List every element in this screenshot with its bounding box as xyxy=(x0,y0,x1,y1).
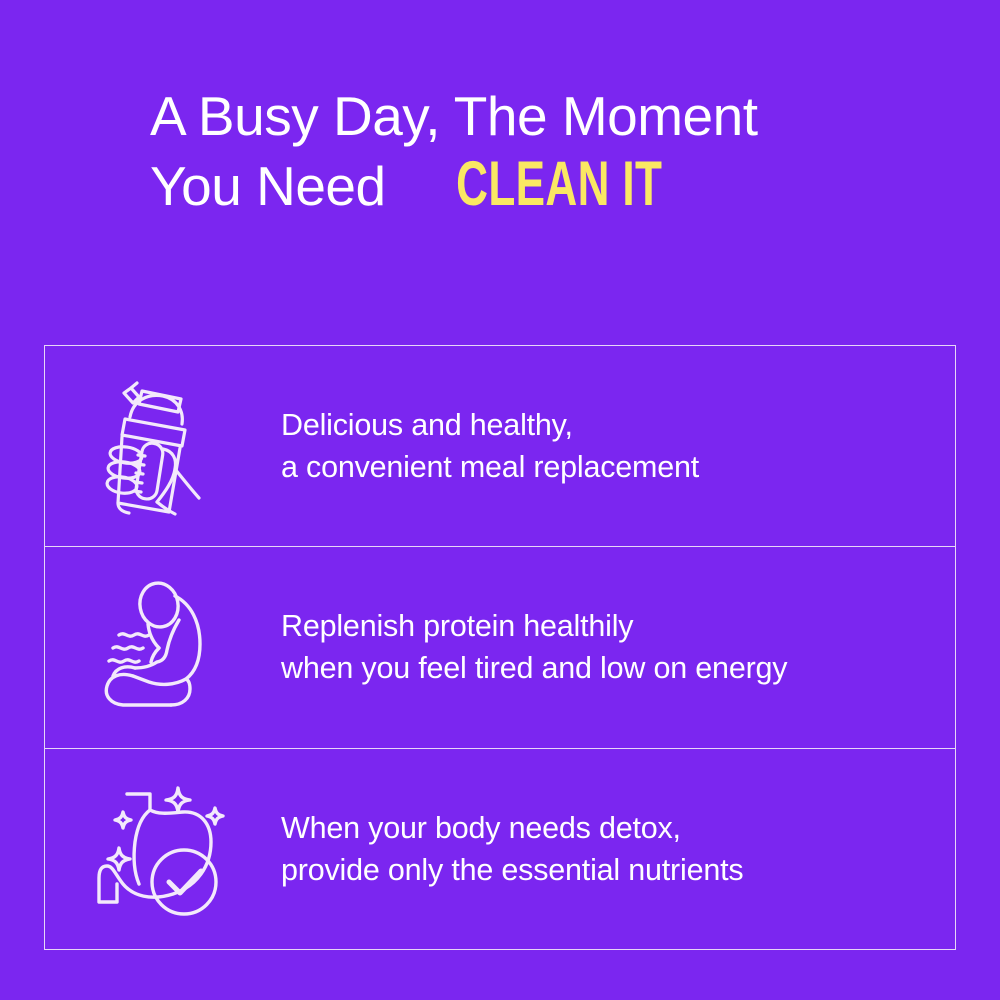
feature-text: Delicious and healthy, a convenient meal… xyxy=(281,404,699,488)
feature-row: Replenish protein healthily when you fee… xyxy=(45,546,955,747)
feature-text-line-1: Delicious and healthy, xyxy=(281,404,699,446)
feature-row: When your body needs detox, provide only… xyxy=(45,748,955,949)
headline-line-2: You Need CLEAN IT xyxy=(150,150,910,220)
feature-text: When your body needs detox, provide only… xyxy=(281,807,743,891)
feature-text-line-2: when you feel tired and low on energy xyxy=(281,647,787,689)
tired-seated-person-icon xyxy=(87,572,237,722)
feature-text: Replenish protein healthily when you fee… xyxy=(281,605,787,689)
stomach-check-sparkle-icon xyxy=(87,774,237,924)
brand-name-clean-it: CLEAN IT xyxy=(456,150,662,218)
feature-text-line-1: When your body needs detox, xyxy=(281,807,743,849)
headline-line-2-prefix: You Need xyxy=(150,152,386,220)
shaker-bottle-in-hand-icon xyxy=(87,371,237,521)
feature-row: Delicious and healthy, a convenient meal… xyxy=(45,346,955,546)
feature-text-line-2: a convenient meal replacement xyxy=(281,446,699,488)
feature-panel: Delicious and healthy, a convenient meal… xyxy=(44,345,956,950)
headline-line-1: A Busy Day, The Moment xyxy=(150,82,910,150)
headline-block: A Busy Day, The Moment You Need CLEAN IT xyxy=(150,82,910,220)
feature-text-line-1: Replenish protein healthily xyxy=(281,605,787,647)
feature-text-line-2: provide only the essential nutrients xyxy=(281,849,743,891)
